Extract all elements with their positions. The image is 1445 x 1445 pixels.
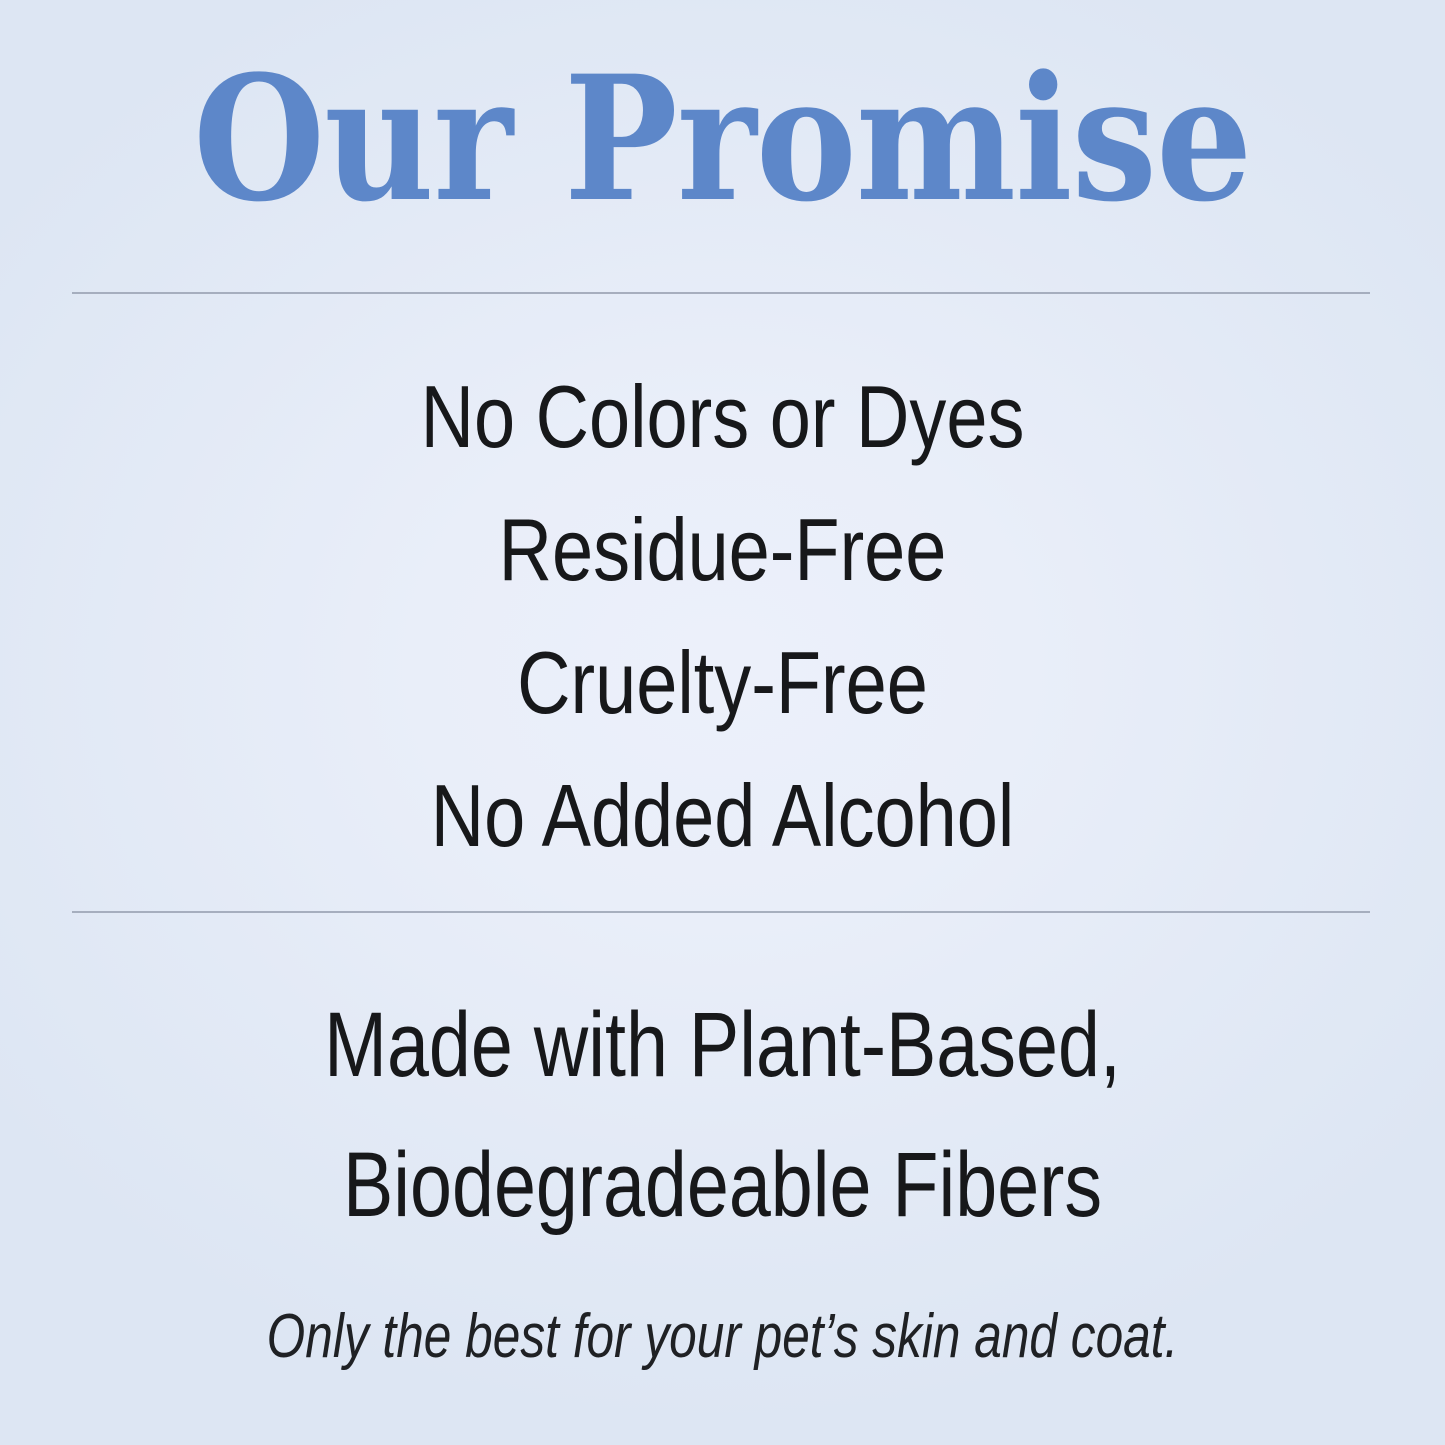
divider-top	[72, 292, 1370, 294]
footnote-text: Only the best for your pet’s skin and co…	[145, 1297, 1301, 1377]
claim-item: Cruelty-Free	[116, 616, 1330, 749]
claim-item: No Added Alcohol	[116, 749, 1330, 882]
claim-item: No Colors or Dyes	[116, 350, 1330, 483]
page-title: Our Promise	[193, 53, 1251, 225]
title-zone: Our Promise	[0, 0, 1445, 290]
fiber-statement: Made with Plant-Based, Biodegradeable Fi…	[0, 975, 1445, 1255]
fiber-statement-line: Made with Plant-Based,	[130, 975, 1315, 1115]
claim-item: Residue-Free	[116, 483, 1330, 616]
our-promise-card: Our Promise No Colors or Dyes Residue-Fr…	[0, 0, 1445, 1445]
claims-list: No Colors or Dyes Residue-Free Cruelty-F…	[0, 350, 1445, 882]
divider-bottom	[72, 911, 1370, 913]
fiber-statement-line: Biodegradeable Fibers	[130, 1115, 1315, 1255]
